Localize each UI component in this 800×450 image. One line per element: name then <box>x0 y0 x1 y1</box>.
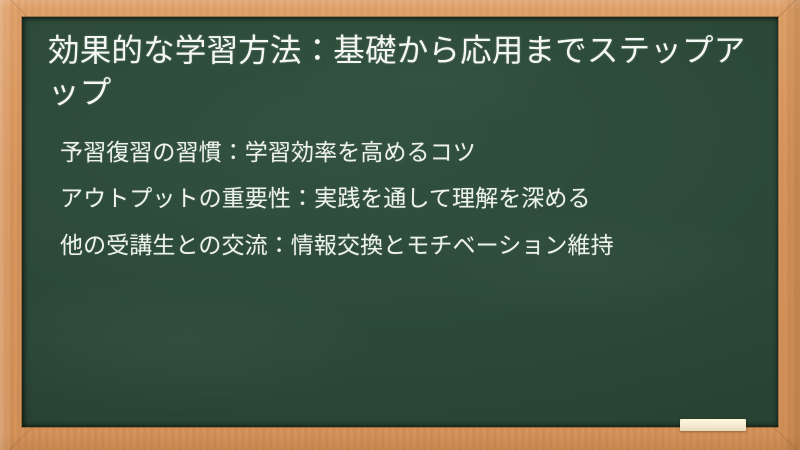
slide-bullet-list: 予習復習の習慣：学習効率を高めるコツ アウトプットの重要性：実践を通して理解を深… <box>46 137 754 263</box>
blackboard-slide: 効果的な学習方法：基礎から応用までステップアップ 予習復習の習慣：学習効率を高め… <box>0 0 800 450</box>
chalk-stick-icon <box>680 419 746 431</box>
board-content: 効果的な学習方法：基礎から応用までステップアップ 予習復習の習慣：学習効率を高め… <box>22 17 778 427</box>
list-item: アウトプットの重要性：実践を通して理解を深める <box>60 183 754 216</box>
list-item: 他の受講生との交流：情報交換とモチベーション維持 <box>60 230 754 263</box>
blackboard-surface: 効果的な学習方法：基礎から応用までステップアップ 予習復習の習慣：学習効率を高め… <box>22 17 778 427</box>
slide-title: 効果的な学習方法：基礎から応用までステップアップ <box>46 27 754 115</box>
list-item: 予習復習の習慣：学習効率を高めるコツ <box>60 137 754 170</box>
